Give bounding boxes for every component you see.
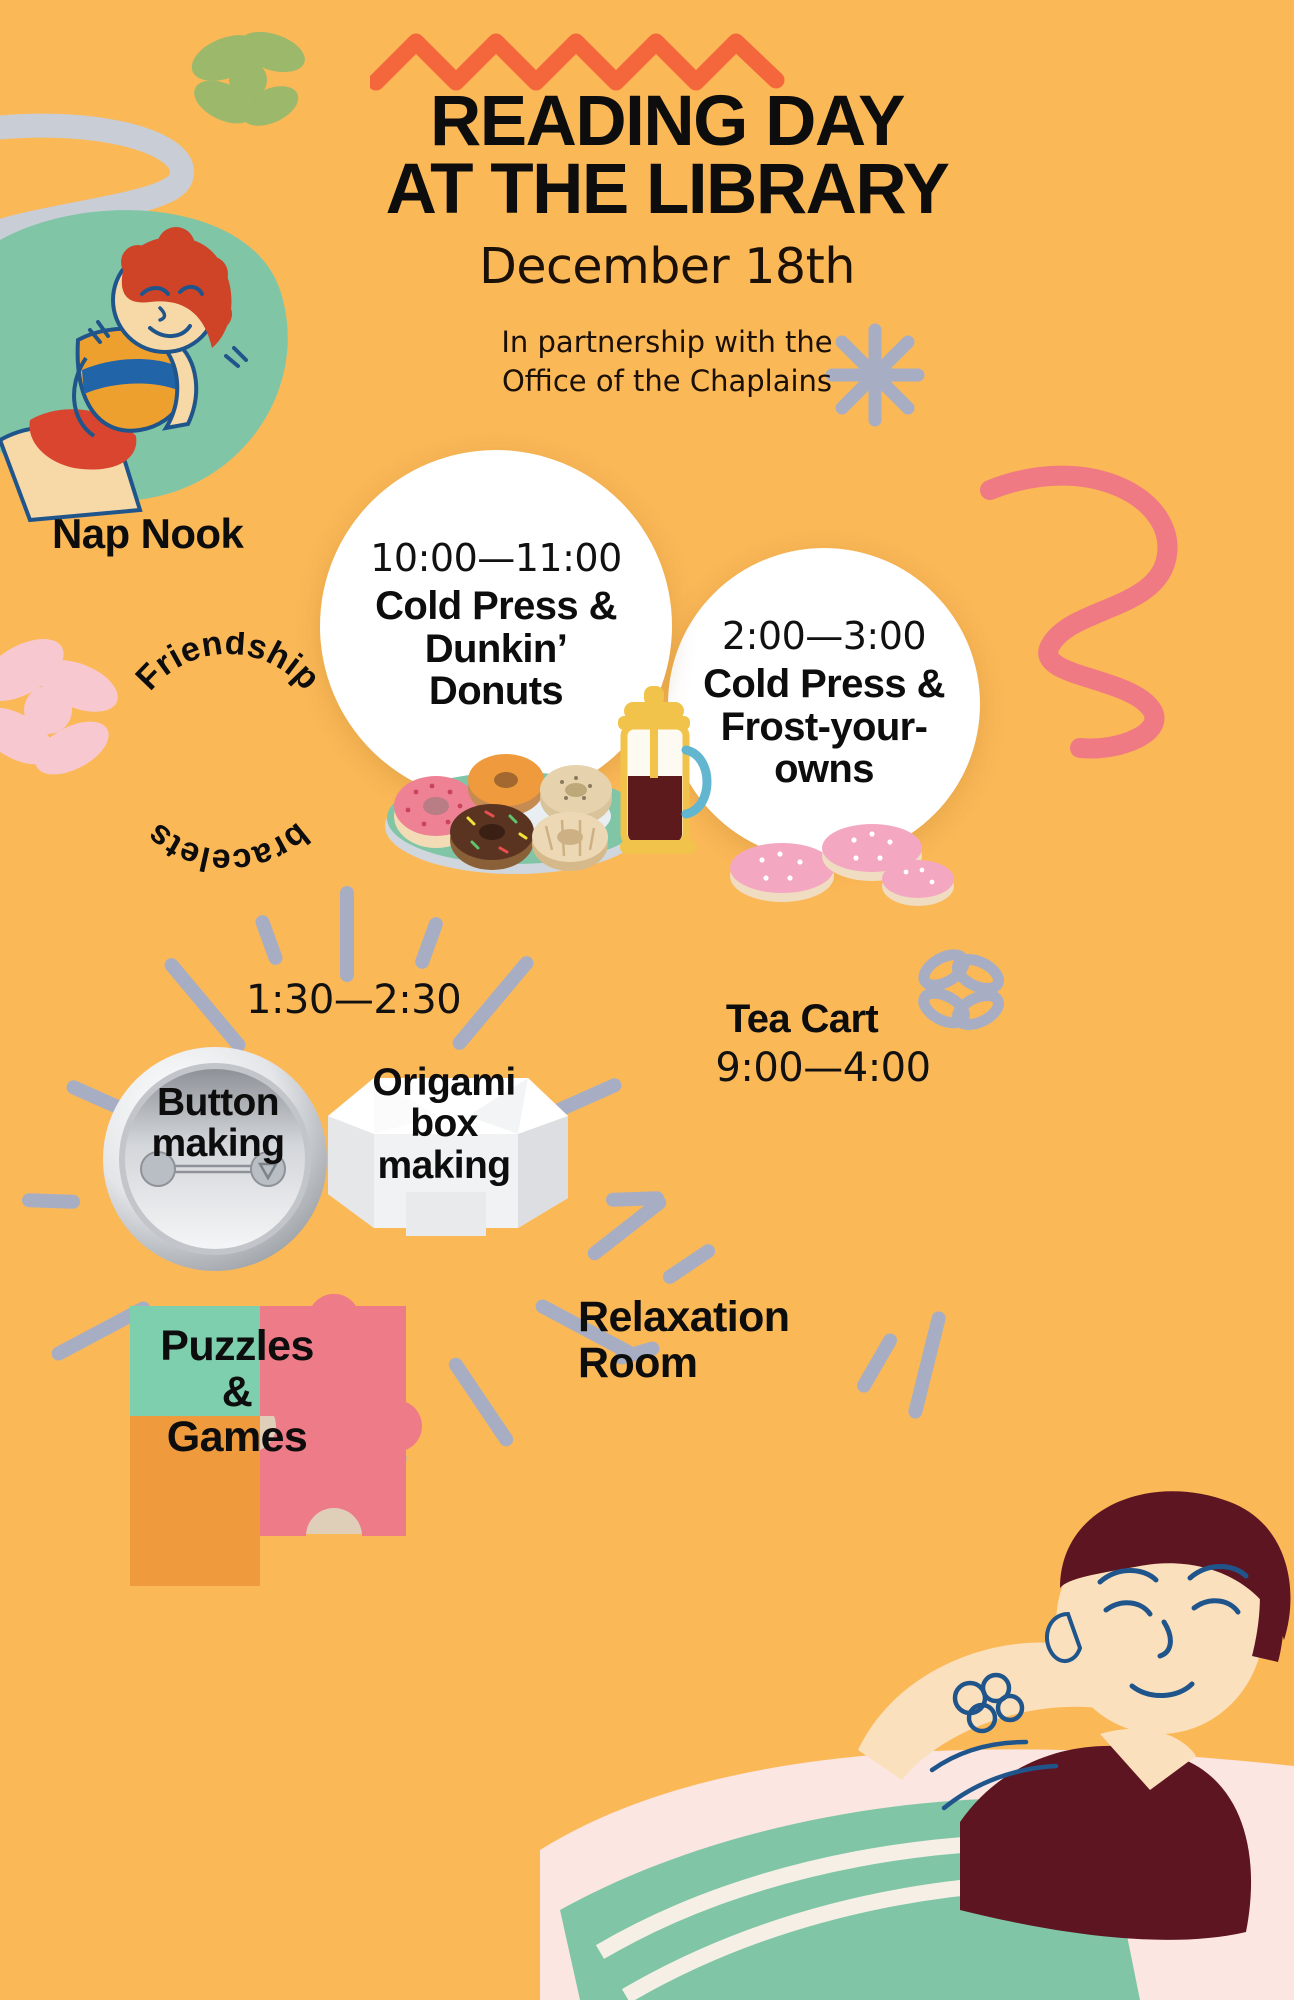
button-making-line-1: Button <box>157 1081 279 1124</box>
morning-name-line-1: Cold Press & <box>375 584 617 628</box>
headline-block: READING DAY AT THE LIBRARY December 18th… <box>0 88 1294 400</box>
afternoon-circle-name: Cold Press & Frost-your- owns <box>703 663 945 790</box>
puzzles-line-3: Games <box>167 1413 307 1461</box>
label-relaxation-room: Relaxation Room <box>578 1295 818 1386</box>
flower-grey-icon <box>910 940 1010 1040</box>
morning-circle-name: Cold Press & Dunkin’ Donuts <box>375 585 617 712</box>
relax-line-1: Relaxation <box>578 1293 789 1341</box>
page-title: READING DAY AT THE LIBRARY <box>0 88 1294 224</box>
label-button-making: Button making <box>128 1082 308 1165</box>
afternoon-circle-time: 2:00—3:00 <box>722 617 926 655</box>
label-tea-cart: Tea Cart <box>706 998 898 1040</box>
relax-line-2: Room <box>578 1339 697 1387</box>
friendship-arc-top: Friendship <box>128 632 327 697</box>
event-date: December 18th <box>0 238 1294 295</box>
morning-name-line-3: Donuts <box>429 669 563 713</box>
label-puzzles-and-games: Puzzles & Games <box>144 1324 330 1461</box>
label-nap-nook: Nap Nook <box>52 512 243 557</box>
origami-line-1: Origami <box>372 1061 515 1104</box>
button-making-line-2: making <box>152 1122 285 1165</box>
origami-line-2: box <box>410 1102 478 1145</box>
puzzles-line-2: & <box>222 1368 252 1416</box>
afternoon-name-line-2: Frost-your- <box>721 705 928 749</box>
ray-burst-decoration <box>30 880 650 1500</box>
label-friendship-bracelets: Friendship bracelets <box>108 632 348 872</box>
title-line-1: READING DAY <box>430 82 904 161</box>
friendship-arc-bottom: bracelets <box>139 815 316 872</box>
morning-circle-time: 10:00—11:00 <box>370 539 622 577</box>
activity-circle-afternoon-coffee: 2:00—3:00 Cold Press & Frost-your- owns <box>668 548 980 860</box>
activity-circle-morning-coffee: 10:00—11:00 Cold Press & Dunkin’ Donuts <box>320 450 672 802</box>
afternoon-name-line-3: owns <box>774 747 874 791</box>
afternoon-name-line-1: Cold Press & <box>703 662 945 706</box>
poster-canvas: READING DAY AT THE LIBRARY December 18th… <box>0 0 1294 2000</box>
origami-line-3: making <box>378 1144 511 1187</box>
puzzles-line-1: Puzzles <box>160 1322 314 1370</box>
partnership-line-2: Office of the Chaplains <box>502 364 832 398</box>
label-button-making-time: 1:30—2:30 <box>246 978 461 1022</box>
title-line-2: AT THE LIBRARY <box>386 150 949 229</box>
partnership-line-1: In partnership with the <box>501 325 832 359</box>
morning-name-line-2: Dunkin’ <box>425 627 567 671</box>
partnership-note: In partnership with the Office of the Ch… <box>0 323 1294 400</box>
label-origami-box-making: Origami box making <box>352 1062 536 1186</box>
label-tea-cart-time: 9:00—4:00 <box>698 1046 948 1090</box>
